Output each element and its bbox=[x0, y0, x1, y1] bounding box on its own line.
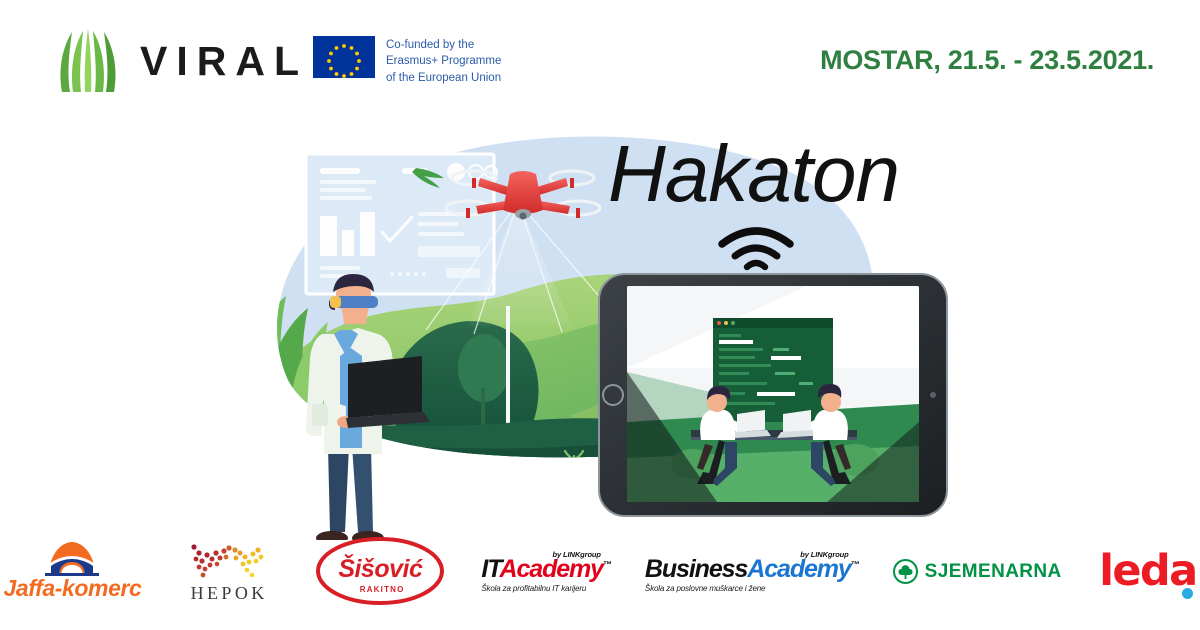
sponsor-businessacademy[interactable]: by LINKgroup BusinessAcademy™ Škola za p… bbox=[645, 534, 859, 608]
header: VIRAL bbox=[0, 0, 1200, 120]
tree-circle-icon bbox=[893, 559, 918, 584]
sponsor-itacademy[interactable]: by LINKgroup ITAcademy™ Škola za profita… bbox=[481, 534, 611, 608]
itacademy-part1: IT bbox=[481, 555, 499, 583]
sponsor-sjemenarna[interactable]: SJEMENARNA bbox=[893, 534, 1062, 608]
jaffa-wordmark: Jaffa-komerc bbox=[3, 577, 141, 600]
eu-line-3: of the European Union bbox=[386, 70, 501, 86]
sponsor-logos: Jaffa-komerc bbox=[0, 530, 1200, 612]
leda-wordmark: leda bbox=[1099, 550, 1196, 593]
grass-blades-icon bbox=[52, 26, 124, 96]
businessacademy-wordmark: BusinessAcademy™ bbox=[645, 557, 859, 582]
businessacademy-tm: ™ bbox=[851, 559, 859, 569]
orange-arch-icon bbox=[41, 542, 103, 576]
page-title: Hakaton bbox=[608, 134, 948, 214]
dotted-arch-icon bbox=[186, 541, 272, 581]
businessacademy-subtitle: Škola za poslovne muškarce i žene bbox=[645, 584, 765, 593]
itacademy-part2: Academy bbox=[500, 555, 603, 583]
eu-line-2: Erasmus+ Programme bbox=[386, 53, 501, 69]
eu-flag-icon bbox=[313, 36, 375, 78]
tablet-screen-scene bbox=[627, 286, 919, 502]
poster-canvas: VIRAL bbox=[0, 0, 1200, 630]
itacademy-wordmark: ITAcademy™ bbox=[481, 557, 611, 582]
hakaton-title: Hakaton bbox=[608, 129, 899, 218]
eu-line-1: Co-funded by the bbox=[386, 37, 501, 53]
businessacademy-part2: Academy bbox=[747, 555, 850, 583]
event-date-location: MOSTAR, 21.5. - 23.5.2021. bbox=[820, 45, 1154, 76]
camera-icon bbox=[930, 392, 936, 398]
sponsor-sisovic[interactable]: Šišović RAKITNO bbox=[313, 534, 447, 608]
sisovic-subtitle: RAKITNO bbox=[360, 585, 405, 594]
tablet-device bbox=[597, 272, 949, 518]
sponsor-leda[interactable]: leda bbox=[1096, 534, 1200, 608]
sponsor-hepok[interactable]: HEPOK bbox=[179, 534, 279, 608]
viral-wordmark: VIRAL bbox=[140, 41, 308, 82]
sjemenarna-wordmark: SJEMENARNA bbox=[925, 562, 1062, 581]
businessacademy-part1: Business bbox=[645, 555, 747, 583]
leda-accent-dot bbox=[1182, 588, 1193, 599]
itacademy-tm: ™ bbox=[603, 559, 611, 569]
wifi-signal-icon bbox=[716, 226, 796, 272]
sisovic-wordmark: Šišović bbox=[338, 557, 422, 582]
viral-logo: VIRAL bbox=[52, 26, 308, 96]
itacademy-subtitle: Škola za profitabilnu IT karijeru bbox=[481, 584, 586, 593]
eu-funding-text: Co-funded by the Erasmus+ Programme of t… bbox=[386, 36, 501, 86]
dashboard-card bbox=[306, 154, 497, 294]
code-editor-window bbox=[713, 318, 833, 422]
sponsor-jaffa-komerc[interactable]: Jaffa-komerc bbox=[0, 534, 145, 608]
hepok-wordmark: HEPOK bbox=[191, 584, 268, 602]
eu-funding-block: Co-funded by the Erasmus+ Programme of t… bbox=[313, 36, 501, 86]
